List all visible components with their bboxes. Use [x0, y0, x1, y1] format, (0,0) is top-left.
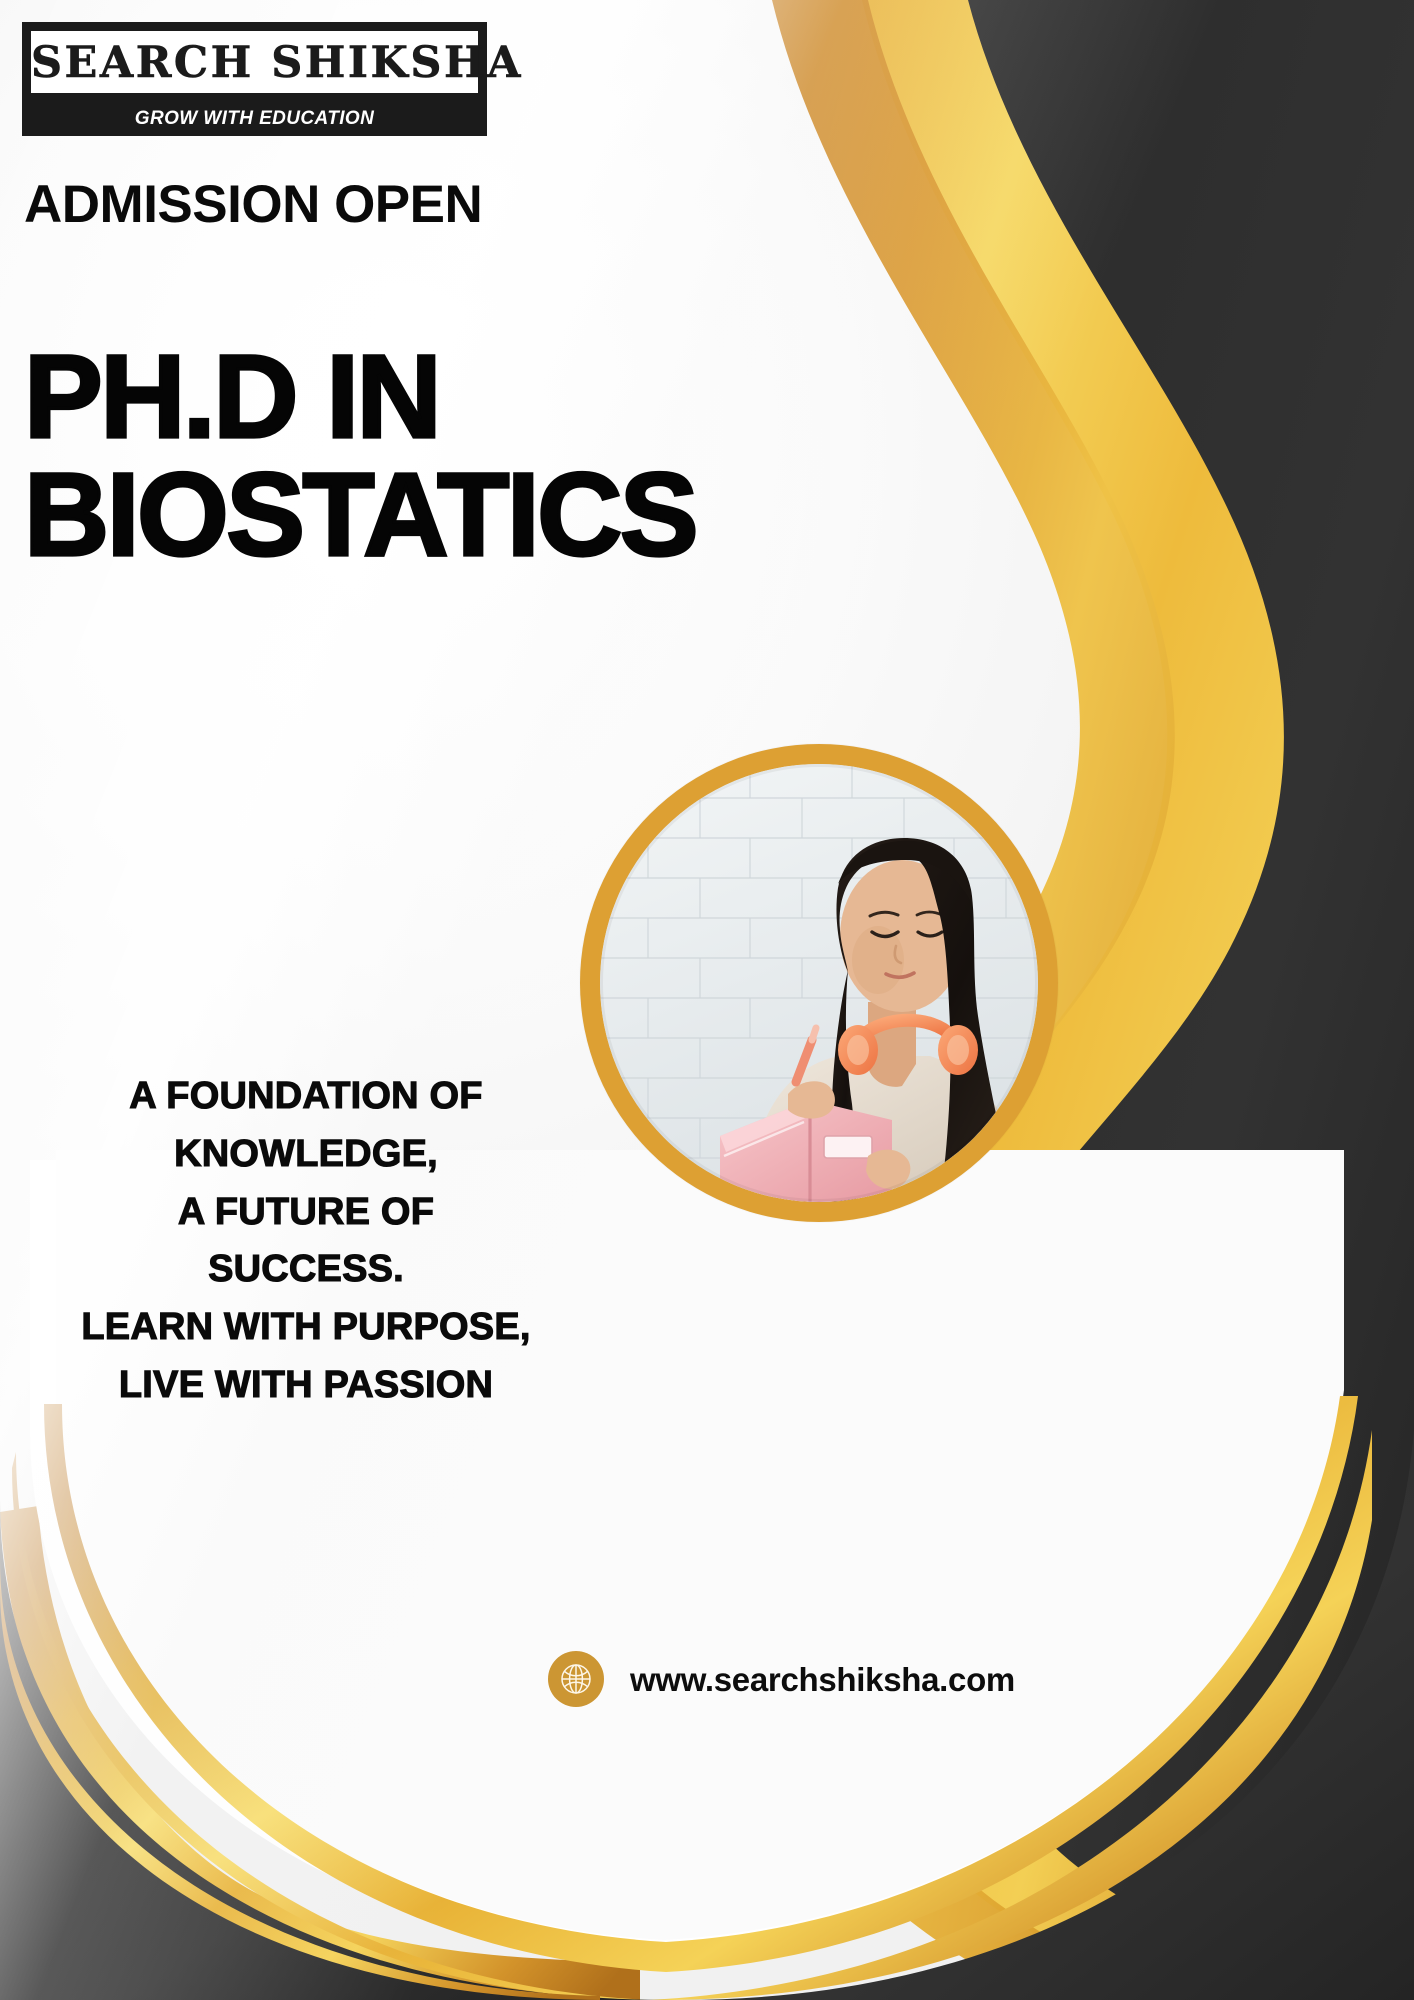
page-title-line-2: BIOSTATICS [24, 456, 696, 574]
tagline-line-5: LEARN WITH PURPOSE, [8, 1299, 604, 1357]
tagline-line-2: KNOWLEDGE, [8, 1126, 604, 1184]
logo-name: SEARCH SHIKSHA [31, 42, 478, 85]
tagline-line-1: A FOUNDATION OF [8, 1068, 604, 1126]
tagline-block: A FOUNDATION OF KNOWLEDGE, A FUTURE OF S… [8, 1068, 604, 1415]
student-photo-ring [580, 744, 1058, 1222]
tagline-line-4: SUCCESS. [8, 1241, 604, 1299]
page-title: PH.D IN BIOSTATICS [24, 338, 696, 574]
website-url[interactable]: www.searchshiksha.com [630, 1663, 1015, 1696]
poster-canvas: SEARCH SHIKSHA GROW WITH EDUCATION ADMIS… [0, 0, 1414, 2000]
website-row[interactable]: www.searchshiksha.com [548, 1651, 1015, 1707]
logo-name-box: SEARCH SHIKSHA [22, 22, 487, 102]
brand-logo[interactable]: SEARCH SHIKSHA GROW WITH EDUCATION [22, 22, 487, 136]
tagline-line-6: LIVE WITH PASSION [8, 1357, 604, 1415]
page-title-line-1: PH.D IN [24, 338, 696, 456]
student-photo-illustration [600, 764, 1038, 1202]
logo-tagline-bar: GROW WITH EDUCATION [22, 102, 487, 136]
admission-kicker: ADMISSION OPEN [24, 178, 482, 231]
tagline-line-3: A FUTURE OF [8, 1184, 604, 1242]
student-photo [600, 764, 1038, 1202]
logo-tagline: GROW WITH EDUCATION [22, 109, 487, 128]
globe-icon [548, 1651, 604, 1707]
